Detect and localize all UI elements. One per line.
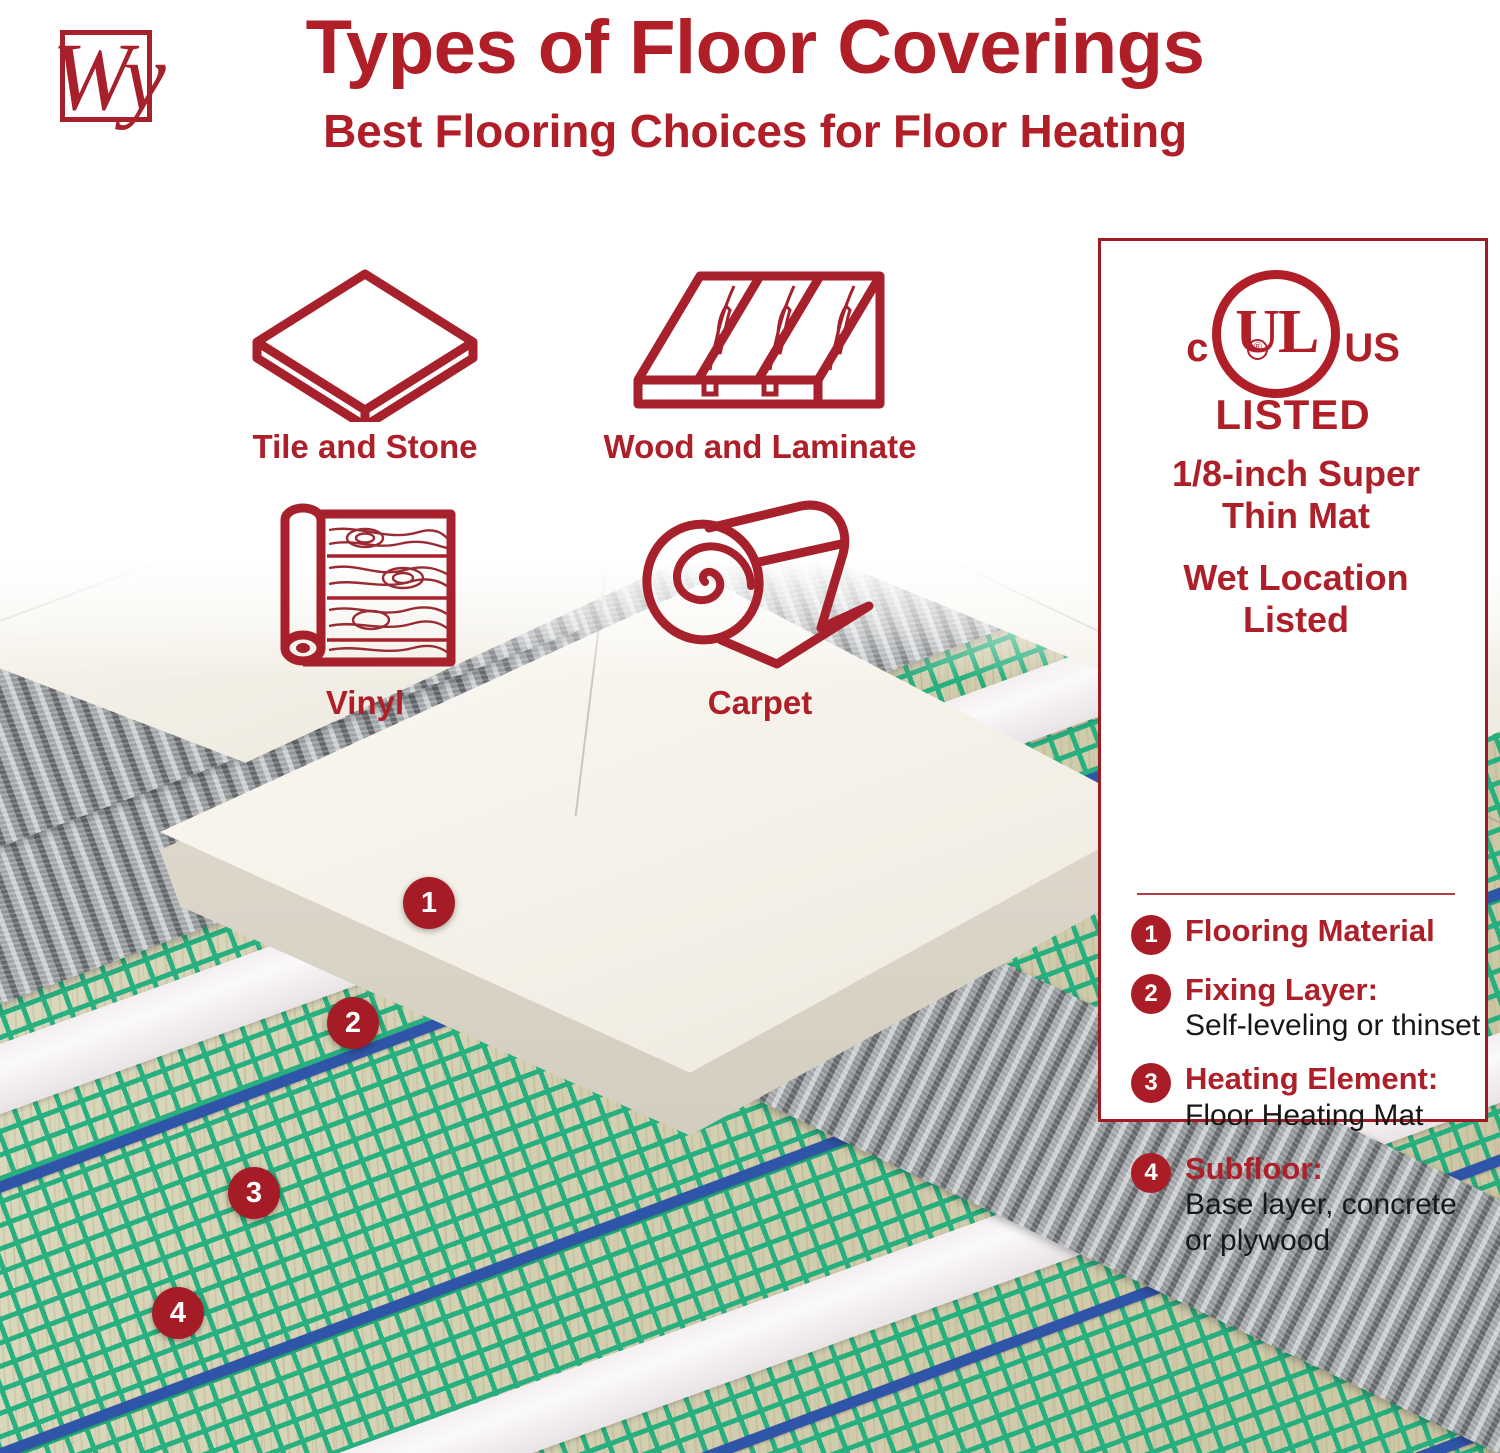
legend-text-3: Heating Element: Floor Heating Mat xyxy=(1185,1061,1481,1133)
covering-label: Wood and Laminate xyxy=(570,428,950,466)
ul-listed-mark: c UL ® US LISTED xyxy=(1101,275,1485,439)
panel-heading-thin-mat: 1/8-inch Super Thin Mat xyxy=(1129,453,1463,538)
warmlyyours-logo: Wy xyxy=(52,24,164,134)
callout-badge-2: 2 xyxy=(327,997,379,1049)
legend-description: Floor Heating Mat xyxy=(1185,1098,1481,1134)
legend-badge-2: 2 xyxy=(1131,974,1171,1014)
ul-mark-row: c UL ® US xyxy=(1101,275,1485,393)
legend-heading: Heating Element: xyxy=(1185,1061,1481,1097)
covering-wood-and-laminate[interactable]: Wood and Laminate xyxy=(570,262,950,466)
ul-certification-panel: c UL ® US LISTED 1/8-inch Super Thin Mat… xyxy=(1098,238,1488,1122)
legend-item-2: 2 Fixing Layer: Self-leveling or thinset xyxy=(1131,972,1481,1044)
legend-badge-3: 3 xyxy=(1131,1063,1171,1103)
covering-label: Carpet xyxy=(600,684,920,722)
legend-text-4: Subfloor: Base layer, concrete or plywoo… xyxy=(1185,1151,1481,1259)
legend-heading: Flooring Material xyxy=(1185,913,1481,949)
legend-description: Base layer, concrete or plywood xyxy=(1185,1187,1481,1259)
callout-number: 4 xyxy=(170,1297,186,1330)
callout-number: 2 xyxy=(345,1007,361,1040)
legend-badge-4: 4 xyxy=(1131,1153,1171,1193)
legend-number: 4 xyxy=(1144,1161,1157,1185)
legend-item-4: 4 Subfloor: Base layer, concrete or plyw… xyxy=(1131,1151,1481,1259)
legend-badge-1: 1 xyxy=(1131,915,1171,955)
logo-monogram: Wy xyxy=(52,18,164,142)
callout-badge-1: 1 xyxy=(403,877,455,929)
callout-number: 1 xyxy=(421,887,437,920)
carpet-roll-icon xyxy=(600,498,920,678)
legend-item-1: 1 Flooring Material xyxy=(1131,913,1481,955)
page-subtitle: Best Flooring Choices for Floor Heating xyxy=(200,104,1310,158)
panel-divider xyxy=(1137,893,1455,895)
covering-icons-grid: Tile and Stone xyxy=(230,262,950,762)
callout-number: 3 xyxy=(246,1177,262,1210)
layer-legend-list: 1 Flooring Material 2 Fixing Layer: Self… xyxy=(1131,913,1481,1276)
wood-laminate-icon xyxy=(570,262,950,422)
callout-badge-4: 4 xyxy=(152,1287,204,1339)
ul-circle-icon: UL ® xyxy=(1212,270,1340,398)
legend-heading: Subfloor: xyxy=(1185,1151,1481,1187)
legend-text-2: Fixing Layer: Self-leveling or thinset xyxy=(1185,972,1481,1044)
page-title: Types of Floor Coverings xyxy=(200,8,1310,88)
vinyl-roll-icon xyxy=(250,498,480,678)
covering-label: Tile and Stone xyxy=(230,428,500,466)
covering-tile-and-stone[interactable]: Tile and Stone xyxy=(230,262,500,466)
legend-text-1: Flooring Material xyxy=(1185,913,1481,955)
legend-item-3: 3 Heating Element: Floor Heating Mat xyxy=(1131,1061,1481,1133)
panel-heading-wet-location: Wet Location Listed xyxy=(1129,557,1463,642)
legend-number: 2 xyxy=(1144,982,1157,1006)
covering-carpet[interactable]: Carpet xyxy=(600,498,920,722)
ul-canada-prefix: c xyxy=(1186,328,1208,368)
legend-number: 1 xyxy=(1144,923,1157,947)
legend-number: 3 xyxy=(1144,1071,1157,1095)
covering-vinyl[interactable]: Vinyl xyxy=(250,498,480,722)
legend-heading: Fixing Layer: xyxy=(1185,972,1481,1008)
ul-listed-text: LISTED xyxy=(1101,391,1485,439)
ul-us-suffix: US xyxy=(1344,328,1400,368)
covering-label: Vinyl xyxy=(250,684,480,722)
tile-stone-icon xyxy=(230,262,500,422)
callout-badge-3: 3 xyxy=(228,1167,280,1219)
legend-description: Self-leveling or thinset xyxy=(1185,1008,1481,1044)
infographic-canvas: WarmlyYours Wy WarmlyYours Wy WarmlyYour… xyxy=(0,0,1500,1453)
